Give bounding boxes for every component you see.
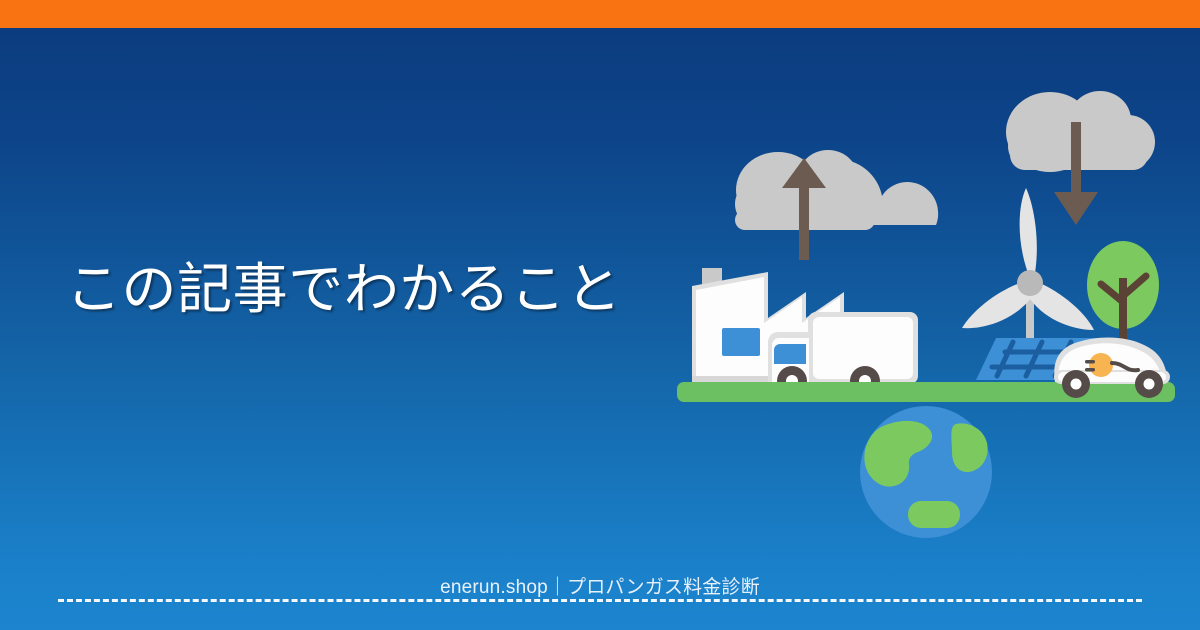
eco-energy-illustration bbox=[660, 80, 1200, 550]
ground-bar bbox=[677, 382, 1175, 402]
tree-icon bbox=[1087, 241, 1159, 340]
footer-divider bbox=[58, 599, 1142, 602]
page-title: この記事でわかること bbox=[66, 258, 622, 321]
slide-canvas: この記事でわかること bbox=[0, 0, 1200, 630]
accent-top-bar bbox=[0, 0, 1200, 28]
globe-icon bbox=[860, 406, 992, 538]
footer-branding: enerun.shop｜プロパンガス料金診断 bbox=[0, 572, 1200, 599]
cloud-up-arrow-icon bbox=[735, 150, 938, 260]
